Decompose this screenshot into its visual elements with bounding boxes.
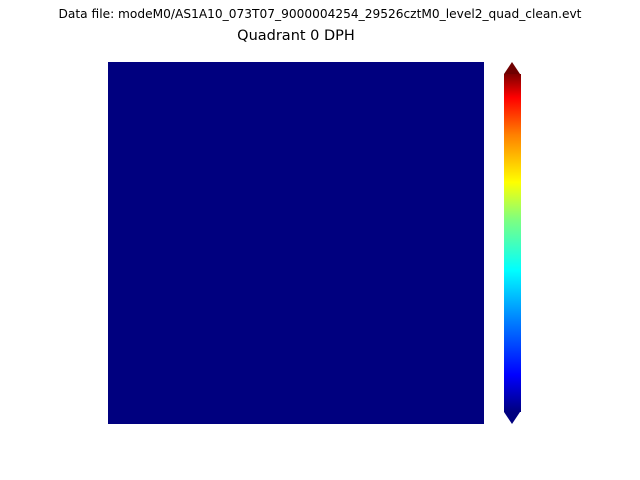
colorbar[interactable] (504, 62, 521, 424)
colorbar-under-arrow (504, 412, 520, 424)
colorbar-gradient (504, 74, 521, 412)
colorbar-over-arrow (504, 62, 520, 74)
detector-pixel-grid (108, 62, 484, 424)
plot-title: Quadrant 0 DPH (108, 28, 484, 44)
heatmap-axes (108, 62, 484, 424)
data-file-caption: Data file: modeM0/AS1A10_073T07_90000042… (0, 7, 640, 21)
matplotlib-figure: Data file: modeM0/AS1A10_073T07_90000042… (0, 0, 640, 480)
